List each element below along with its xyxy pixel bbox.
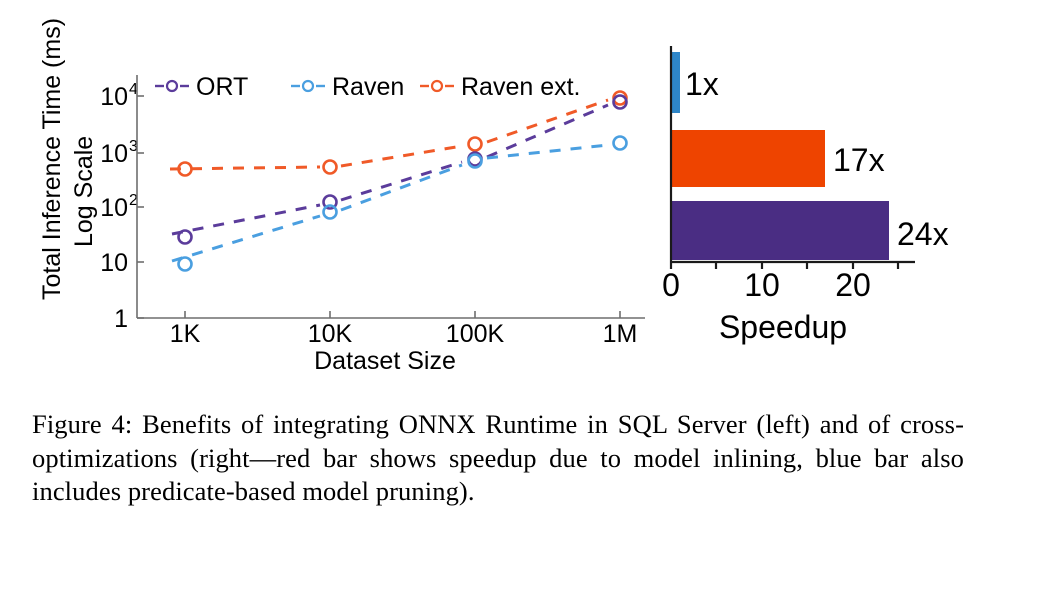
x-tick-label-10k: 10K: [308, 320, 353, 348]
legend-label-ort: ORT: [196, 73, 248, 101]
bar-orange[interactable]: [671, 130, 825, 187]
y-axis-title-line2: Log Scale: [70, 136, 98, 247]
series-raven-segment-2: [341, 165, 462, 210]
y-tick-label-10000: 10: [100, 83, 128, 111]
y-axis-ticks: [137, 96, 144, 318]
bar-x-tick-label-10: 10: [744, 267, 780, 303]
x-tick-labels: 1K 10K 100K 1M: [170, 320, 638, 348]
x-tick-label-1k: 1K: [170, 320, 201, 348]
legend-marker-raven-ext: [432, 81, 442, 91]
bar-label-blue: 1x: [685, 66, 719, 102]
x-axis-ticks: [185, 311, 620, 318]
data-point-raven-ext-100k: [469, 138, 482, 151]
data-point-raven-1m: [614, 137, 627, 150]
bar-label-purple: 24x: [897, 216, 949, 252]
bar-x-tick-label-20: 20: [835, 267, 871, 303]
y-tick-label-100: 10: [100, 194, 128, 222]
y-tick-label-1000: 10: [100, 140, 128, 168]
legend-item-raven-ext[interactable]: Raven ext.: [420, 73, 581, 101]
bar-purple[interactable]: [671, 201, 889, 260]
legend-marker-ort: [167, 81, 177, 91]
figure-panel: Total Inference Time (ms) Log Scale 10 4…: [0, 0, 1040, 390]
bar-label-orange: 17x: [833, 142, 885, 178]
legend-label-raven: Raven: [332, 73, 404, 101]
series-raven-segment-3: [487, 145, 608, 158]
bar-x-tick-label-0: 0: [662, 267, 680, 303]
series-ort-segment-2: [341, 162, 462, 200]
legend-label-raven-ext: Raven ext.: [461, 73, 581, 101]
y-tick-label-1: 1: [114, 305, 128, 333]
series-raven-segment-1: [172, 216, 320, 261]
series-raven-ext-segment-3: [487, 100, 608, 142]
x-axis-title: Dataset Size: [314, 347, 456, 375]
y-tick-label-10: 10: [100, 249, 128, 277]
data-point-ort-1k: [179, 231, 192, 244]
figure-caption: Figure 4: Benefits of integrating ONNX R…: [32, 408, 964, 509]
legend-item-ort[interactable]: ORT: [155, 73, 248, 101]
bar-blue[interactable]: [671, 52, 680, 113]
series-ort-segment-1: [172, 205, 320, 234]
bar-x-axis-title: Speedup: [719, 309, 847, 345]
y-axis-title-line1: Total Inference Time (ms): [38, 18, 66, 300]
data-point-raven-1k: [179, 258, 192, 271]
bar-chart: 1x 17x 24x 0 10 20 Speedup: [655, 0, 1035, 390]
line-chart: Total Inference Time (ms) Log Scale 10 4…: [0, 0, 660, 390]
x-tick-label-100k: 100K: [446, 320, 505, 348]
legend: ORT Raven Raven ext.: [155, 73, 581, 101]
x-tick-label-1m: 1M: [603, 320, 638, 348]
legend-item-raven[interactable]: Raven: [291, 73, 404, 101]
legend-marker-raven: [303, 81, 313, 91]
data-point-raven-ext-10k: [324, 161, 337, 174]
series-raven: [172, 137, 627, 271]
series-raven-ext-segment-2: [341, 146, 462, 166]
figure-caption-container: Figure 4: Benefits of integrating ONNX R…: [32, 408, 964, 509]
series-ort-segment-3: [487, 105, 608, 157]
series-raven-ext: [170, 92, 627, 176]
y-tick-labels: 10 4 10 3 10 2 10 1: [100, 81, 138, 333]
